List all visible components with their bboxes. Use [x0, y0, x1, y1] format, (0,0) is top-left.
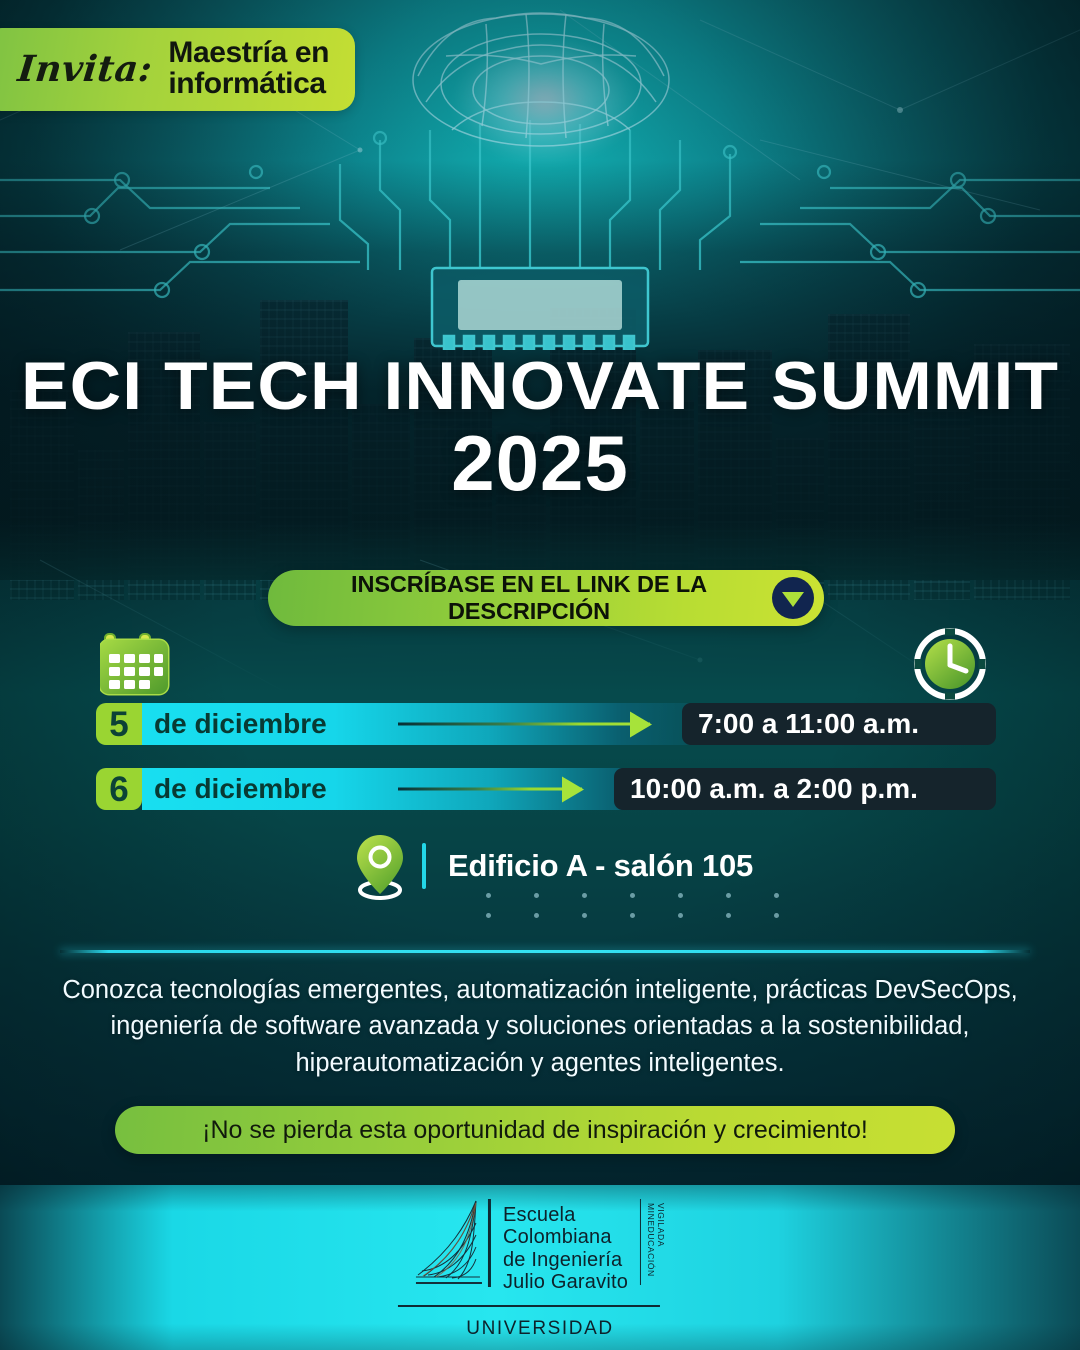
location-divider: [422, 843, 426, 889]
day-badge: 6: [96, 768, 142, 810]
map-pin-icon: [352, 832, 408, 900]
invita-script-label: Invita:: [16, 48, 155, 90]
calendar-icon: [100, 628, 174, 696]
event-description: Conozca tecnologías emergentes, automati…: [55, 972, 1025, 1081]
title-main-line: ECI TECH INNOVATE SUMMIT: [0, 352, 1080, 420]
event-title: ECI TECH INNOVATE SUMMIT 2025: [0, 352, 1080, 504]
schedule-row: 5 de diciembre 7:00 a 11:00 a.m.: [96, 703, 996, 745]
month-label: de diciembre: [154, 708, 327, 740]
chevron-down-icon: [772, 577, 814, 619]
logo-line-4: Julio Garavito: [503, 1271, 628, 1293]
register-cta-label: INSCRÍBASE EN EL LINK DE LA DESCRIPCIÓN: [286, 571, 772, 625]
arrow-connector: [398, 723, 650, 726]
program-name: Maestría en informática: [168, 38, 329, 99]
logo-line-2: Colombiana: [503, 1226, 628, 1248]
time-label: 10:00 a.m. a 2:00 p.m.: [630, 773, 918, 805]
university-label: UNIVERSIDAD: [466, 1318, 613, 1340]
highlight-banner-text: ¡No se pierda esta oportunidad de inspir…: [202, 1116, 868, 1145]
time-pill: 10:00 a.m. a 2:00 p.m.: [614, 768, 996, 810]
location-label: Edificio A - salón 105: [448, 848, 753, 884]
logo-mesh-icon: [414, 1199, 486, 1291]
time-pill: 7:00 a 11:00 a.m.: [682, 703, 996, 745]
register-cta-button[interactable]: INSCRÍBASE EN EL LINK DE LA DESCRIPCIÓN: [268, 570, 824, 626]
highlight-banner: ¡No se pierda esta oportunidad de inspir…: [115, 1106, 955, 1154]
program-line-1: Maestría en: [168, 36, 329, 69]
invitation-badge: Invita: Maestría en informática: [0, 28, 355, 111]
footer-bar: Escuela Colombiana de Ingeniería Julio G…: [0, 1185, 1080, 1350]
time-label: 7:00 a 11:00 a.m.: [698, 708, 919, 740]
day-number: 6: [109, 772, 128, 807]
location-block: Edificio A - salón 105: [352, 832, 753, 900]
schedule-row: 6 de diciembre 10:00 a.m. a 2:00 p.m.: [96, 768, 996, 810]
poster-root: Invita: Maestría en informática ECI TECH…: [0, 0, 1080, 1350]
logo-text: Escuela Colombiana de Ingeniería Julio G…: [503, 1199, 628, 1294]
clock-icon: [912, 626, 988, 702]
program-line-2: informática: [168, 67, 325, 100]
logo-line-1: Escuela: [503, 1204, 628, 1226]
section-divider: [60, 950, 1030, 953]
day-badge: 5: [96, 703, 142, 745]
vigilada-mineducacion-note: VIGILADA MINEDUCACIÓN: [640, 1199, 666, 1285]
dot-grid-decoration: [486, 893, 816, 923]
logo-vertical-rule: [488, 1199, 491, 1287]
university-logo: Escuela Colombiana de Ingeniería Julio G…: [414, 1199, 666, 1340]
title-year: 2025: [0, 424, 1080, 504]
month-label: de diciembre: [154, 773, 327, 805]
day-number: 5: [109, 707, 128, 742]
arrow-connector: [398, 788, 582, 791]
logo-underline: [398, 1305, 660, 1308]
logo-line-3: de Ingeniería: [503, 1249, 628, 1271]
